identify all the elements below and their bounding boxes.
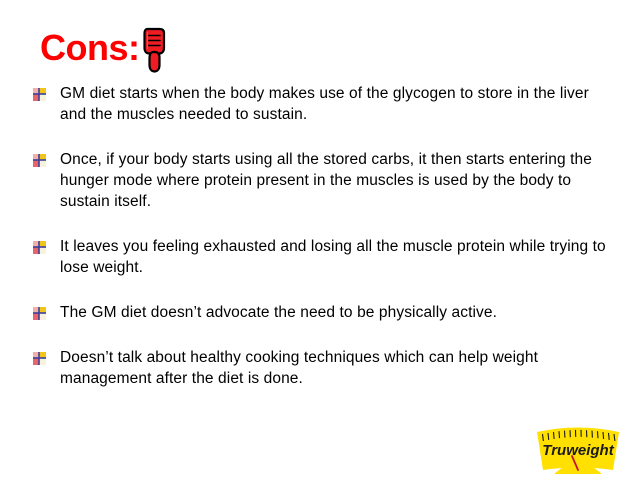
pinwheel-bullet-icon bbox=[33, 154, 46, 167]
pinwheel-bullet-icon bbox=[33, 88, 46, 101]
list-item-label: The GM diet doesn’t advocate the need to… bbox=[60, 302, 618, 323]
list-item: Doesn’t talk about healthy cooking techn… bbox=[33, 347, 618, 389]
list-item: GM diet starts when the body makes use o… bbox=[33, 83, 618, 125]
bullet-list: GM diet starts when the body makes use o… bbox=[33, 83, 618, 389]
list-item: Once, if your body starts using all the … bbox=[33, 149, 618, 212]
pinwheel-bullet-icon bbox=[33, 307, 46, 320]
thumbs-down-icon bbox=[141, 26, 173, 74]
list-item-label: Doesn’t talk about healthy cooking techn… bbox=[60, 347, 618, 389]
list-item-label: GM diet starts when the body makes use o… bbox=[60, 83, 618, 125]
slide-canvas: Cons: bbox=[0, 0, 638, 479]
slide-title: Cons: bbox=[40, 22, 173, 68]
truweight-logo: Truweight bbox=[528, 424, 628, 474]
page-title: Cons: bbox=[40, 28, 140, 68]
list-item: It leaves you feeling exhausted and losi… bbox=[33, 236, 618, 278]
pinwheel-bullet-icon bbox=[33, 352, 46, 365]
truweight-logo-text: Truweight bbox=[542, 442, 614, 459]
list-item-label: It leaves you feeling exhausted and losi… bbox=[60, 236, 618, 278]
pinwheel-bullet-icon bbox=[33, 241, 46, 254]
list-item: The GM diet doesn’t advocate the need to… bbox=[33, 302, 618, 323]
list-item-label: Once, if your body starts using all the … bbox=[60, 149, 618, 212]
